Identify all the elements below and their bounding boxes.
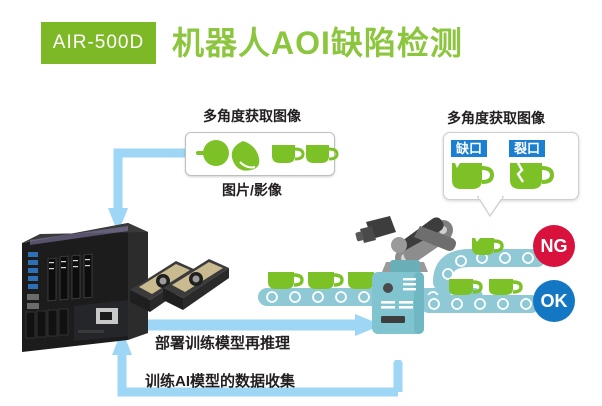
conveyor-ok-branch [420, 295, 540, 313]
diagram-canvas: AIR-500D 机器人AOI缺陷检测 多角度获取图像 [0, 0, 602, 406]
scene-layer [0, 0, 602, 406]
collect-caption: 训练AI模型的数据收集 [145, 370, 295, 391]
conveyor-cups-ok [449, 279, 521, 295]
industrial-pc [22, 223, 148, 352]
result-badge-ng: NG [533, 225, 575, 267]
result-badge-ok: OK [533, 280, 575, 322]
conveyor-ng-branch [442, 253, 537, 282]
conveyor-cups-main [268, 272, 382, 289]
deploy-caption: 部署训练模型再推理 [155, 332, 290, 353]
inspection-controller [372, 260, 424, 334]
